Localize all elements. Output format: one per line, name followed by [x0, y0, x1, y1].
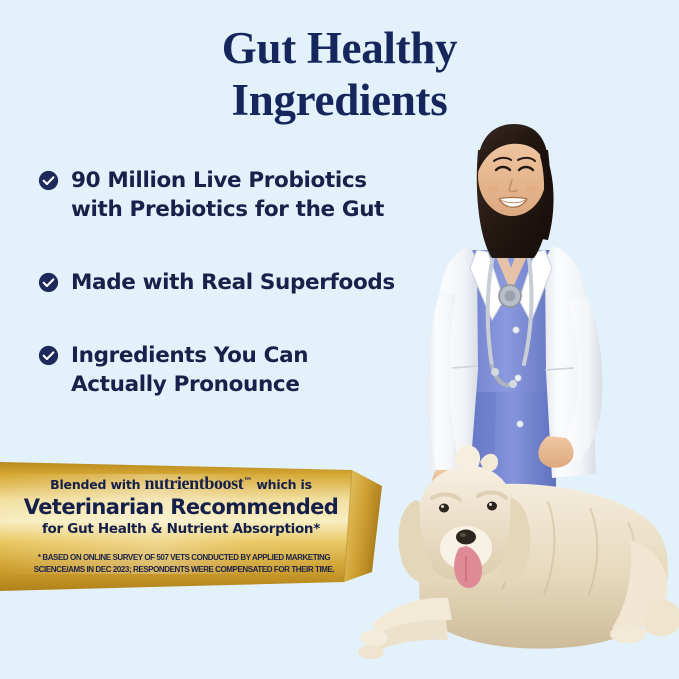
banner-suffix: which is [256, 477, 312, 492]
banner-subline: for Gut Health & Nutrient Absorption* [0, 521, 362, 537]
benefits-list: 90 Million Live Probioticswith Prebiotic… [38, 166, 438, 443]
list-item-label: Ingredients You CanActually Pronounce [71, 341, 308, 399]
disclaimer-line-1: * BASED ON ONLINE SURVEY OF 507 VETS CON… [26, 552, 342, 564]
trademark-symbol: ™ [243, 477, 252, 487]
title-line-1: Gut Healthy [0, 22, 679, 74]
bullet-3-line-1: Ingredients You Can [71, 343, 308, 368]
banner-headline: Veterinarian Recommended [0, 495, 362, 519]
banner-headline-group: Blended with nutrientboost™ which is Vet… [0, 460, 362, 537]
infographic-page: Gut Healthy Ingredients 90 Million Live … [0, 0, 679, 679]
banner-disclaimer: * BASED ON ONLINE SURVEY OF 507 VETS CON… [26, 552, 342, 575]
list-item: Ingredients You CanActually Pronounce [38, 341, 438, 399]
veterinarian-recommended-banner: Blended with nutrientboost™ which is Vet… [0, 460, 392, 594]
bullet-1-line-2: with Prebiotics for the Gut [71, 197, 384, 222]
list-item: Made with Real Superfoods [38, 268, 438, 297]
veterinarian-figure [428, 124, 603, 606]
check-circle-icon [38, 345, 59, 366]
bullet-3-line-2: Actually Pronounce [71, 372, 300, 397]
banner-line-1: Blended with nutrientboost™ which is [0, 473, 362, 494]
list-item: 90 Million Live Probioticswith Prebiotic… [38, 166, 438, 224]
banner-prefix: Blended with [50, 477, 140, 492]
nutrientboost-wordmark: nutrientboost [145, 473, 244, 493]
disclaimer-line-2: SCIENCE/AMS IN DEC 2023; RESPONDENTS WER… [26, 564, 342, 576]
check-circle-icon [38, 170, 59, 191]
list-item-label: 90 Million Live Probioticswith Prebiotic… [71, 166, 384, 224]
bullet-1-line-1: 90 Million Live Probiotics [71, 168, 367, 193]
list-item-label: Made with Real Superfoods [71, 268, 395, 297]
page-title: Gut Healthy Ingredients [0, 22, 679, 126]
check-circle-icon [38, 272, 59, 293]
title-line-2: Ingredients [0, 74, 679, 126]
dog-figure [358, 445, 679, 659]
